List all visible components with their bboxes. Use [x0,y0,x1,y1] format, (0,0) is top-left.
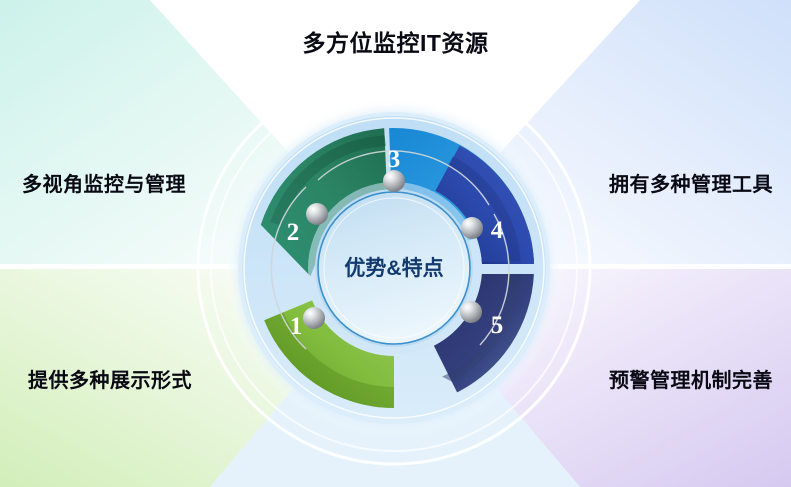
segment-number-3: 3 [388,146,401,173]
label-top-right: 拥有多种管理工具 [609,168,773,197]
label-bottom-left: 提供多种展示形式 [28,364,192,393]
wheel-layer: 优势&特点 1 2 3 4 5 [0,0,791,487]
marker-sphere-2[interactable] [306,203,328,225]
center-disc[interactable]: 优势&特点 [315,189,473,347]
label-top-left: 多视角监控与管理 [22,168,186,197]
marker-sphere-3[interactable] [383,170,405,192]
marker-sphere-4[interactable] [461,217,483,239]
marker-sphere-1[interactable] [303,307,325,329]
segment-number-4: 4 [491,217,504,244]
segment-number-5: 5 [491,312,504,339]
label-bottom-right: 预警管理机制完善 [609,364,773,393]
segment-number-2: 2 [287,219,300,246]
marker-sphere-5[interactable] [460,301,482,323]
page-title: 多方位监控IT资源 [0,24,791,58]
infographic-canvas: 优势&特点 1 2 3 4 5 多方位监控IT资源 多视角监控与管理 拥有多种管… [0,0,791,487]
center-label: 优势&特点 [344,256,443,280]
segment-number-1: 1 [290,313,303,340]
